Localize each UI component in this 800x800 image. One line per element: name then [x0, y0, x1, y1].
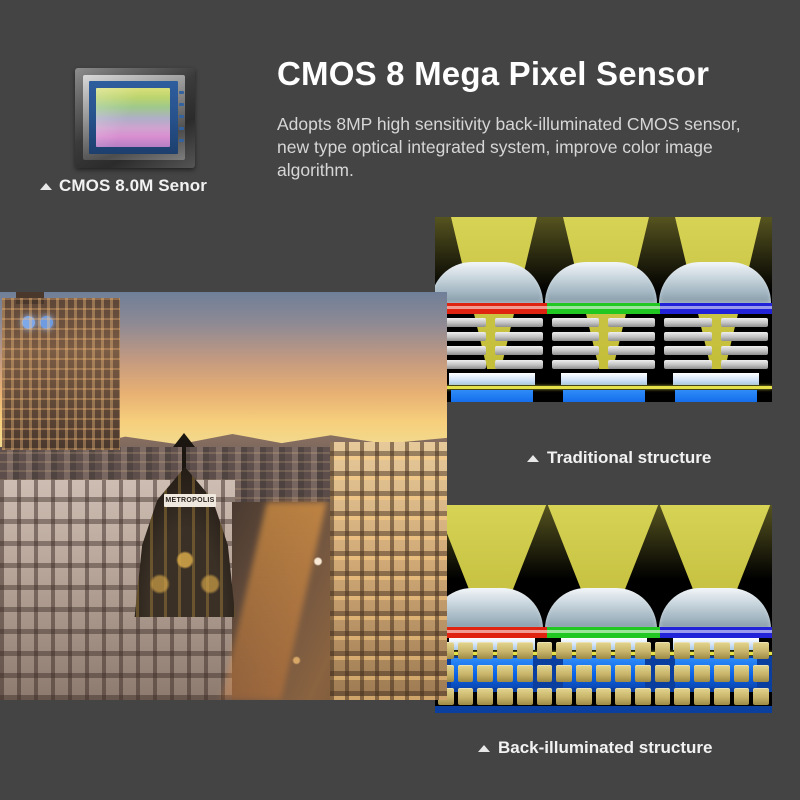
wiring-cell [556, 642, 572, 659]
chip-inner-frame [83, 75, 185, 160]
wiring-cell [694, 642, 710, 659]
foreground-building-right [330, 442, 447, 700]
wiring-cell [714, 688, 730, 705]
chip-pin [179, 91, 184, 94]
photodiode-cap [449, 373, 535, 385]
diagram-back-illuminated-structure [435, 505, 772, 713]
wiring-cell [477, 688, 493, 705]
triangle-up-icon [478, 745, 490, 752]
rgb-color-filter-layer [435, 627, 772, 638]
color-filter-red [435, 627, 547, 638]
wiring-cell [694, 688, 710, 705]
substrate-boundary-line [435, 386, 772, 389]
wiring-cell [497, 665, 513, 682]
photodiode-cap [673, 373, 759, 385]
cmos-sensor-caption: CMOS 8.0M Senor [40, 176, 270, 196]
wiring-row [439, 332, 768, 341]
wiring-cell [635, 665, 651, 682]
wiring-cell [458, 688, 474, 705]
color-filter-green [547, 303, 659, 314]
wiring-cell [576, 688, 592, 705]
metropolis-sign: METROPOLIS [164, 494, 216, 507]
wiring-cell [556, 665, 572, 682]
wiring-cell [655, 665, 671, 682]
chip-pin [179, 127, 184, 130]
page-title: CMOS 8 Mega Pixel Sensor [277, 55, 777, 93]
wiring-cell [537, 665, 553, 682]
wiring-cell [537, 642, 553, 659]
wiring-cell [497, 642, 513, 659]
wiring-cell [721, 318, 768, 327]
wiring-cell [596, 642, 612, 659]
wiring-cell [495, 346, 542, 355]
wiring-cell [495, 360, 542, 369]
wiring-cell [495, 332, 542, 341]
infographic-root: CMOS 8.0M Senor CMOS 8 Mega Pixel Sensor… [0, 0, 800, 800]
wiring-row [438, 642, 769, 659]
wiring-cell [635, 642, 651, 659]
wiring-row [439, 318, 768, 327]
wiring-cell [517, 688, 533, 705]
wiring-cell [552, 346, 599, 355]
wiring-cell [552, 360, 599, 369]
wiring-row [439, 346, 768, 355]
substrate-base [435, 706, 772, 713]
wiring-cell [664, 360, 711, 369]
wiring-cell [477, 665, 493, 682]
rgb-color-filter-layer [435, 303, 772, 314]
photodiode [451, 390, 533, 402]
cityscape-photo: METROPOLIS [0, 292, 447, 700]
wiring-cell [497, 688, 513, 705]
diagram-traditional-structure [435, 217, 772, 402]
wiring-cell [458, 665, 474, 682]
wiring-cell [635, 688, 651, 705]
wiring-cell [753, 642, 769, 659]
cmos-sensor-caption-label: CMOS 8.0M Senor [59, 176, 207, 196]
chip-die-surface [96, 88, 170, 147]
wiring-cell [655, 642, 671, 659]
color-filter-green [547, 627, 659, 638]
wiring-cell [655, 688, 671, 705]
caption-traditional-structure: Traditional structure [527, 448, 711, 468]
wiring-cell [608, 318, 655, 327]
chip-pin [179, 139, 184, 142]
wiring-cell [608, 360, 655, 369]
caption-back-illuminated-structure: Back-illuminated structure [478, 738, 712, 758]
wiring-cell [495, 318, 542, 327]
wiring-cell [721, 332, 768, 341]
metal-wiring-layer [439, 318, 768, 369]
color-filter-blue [660, 627, 772, 638]
wiring-cell [664, 346, 711, 355]
wiring-cell [674, 642, 690, 659]
color-filter-blue [660, 303, 772, 314]
wiring-cell [753, 665, 769, 682]
wiring-row [438, 688, 769, 705]
photodiode [675, 390, 757, 402]
caption-bsi-label: Back-illuminated structure [498, 738, 712, 758]
wiring-cell [556, 688, 572, 705]
wiring-cell [664, 332, 711, 341]
wiring-cell [576, 665, 592, 682]
wiring-cell [458, 642, 474, 659]
wiring-cell [714, 642, 730, 659]
metal-wiring-layer-gold [438, 642, 769, 705]
wiring-cell [517, 642, 533, 659]
cmos-sensor-chip-image [75, 68, 195, 168]
wiring-cell [615, 688, 631, 705]
wiring-row [438, 665, 769, 682]
chip-pin [179, 103, 184, 106]
wiring-row [439, 360, 768, 369]
triangle-up-icon [40, 183, 52, 190]
wiring-cell [674, 665, 690, 682]
chip-pin [179, 115, 184, 118]
wiring-cell [477, 642, 493, 659]
wiring-cell [615, 665, 631, 682]
wiring-cell [721, 346, 768, 355]
photodiode [563, 390, 645, 402]
color-filter-red [435, 303, 547, 314]
photodiode-layer [435, 373, 772, 402]
wiring-cell [734, 688, 750, 705]
wiring-cell [552, 318, 599, 327]
wiring-cell [517, 665, 533, 682]
chip-blue-frame [89, 81, 178, 154]
wiring-cell [694, 665, 710, 682]
wiring-cell [734, 642, 750, 659]
wiring-cell [753, 688, 769, 705]
wiring-cell [552, 332, 599, 341]
wiring-cell [608, 346, 655, 355]
wiring-cell [596, 688, 612, 705]
illuminated-clock [22, 316, 35, 329]
caption-traditional-label: Traditional structure [547, 448, 711, 468]
wiring-cell [721, 360, 768, 369]
photodiode-cap [561, 373, 647, 385]
wiring-cell [537, 688, 553, 705]
wiring-cell [608, 332, 655, 341]
clock-tower-building [2, 298, 120, 450]
page-description: Adopts 8MP high sensitivity back-illumin… [277, 113, 747, 182]
wiring-cell [664, 318, 711, 327]
wiring-cell [674, 688, 690, 705]
wiring-cell [615, 642, 631, 659]
wiring-cell [596, 665, 612, 682]
wiring-cell [576, 642, 592, 659]
triangle-up-icon [527, 455, 539, 462]
wiring-cell [714, 665, 730, 682]
wiring-cell [734, 665, 750, 682]
